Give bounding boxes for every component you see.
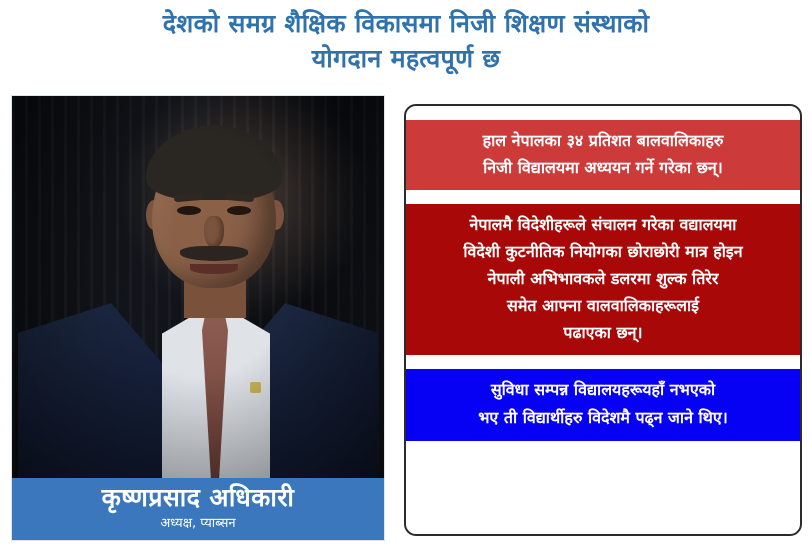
infographic-root: देशको समग्र शैक्षिक विकासमा निजी शिक्षण … [0,0,812,554]
quote-box-1: हाल नेपालका ३४ प्रतिशत बालवालिकाहरु निजी… [406,120,800,190]
quotes-panel: हाल नेपालका ३४ प्रतिशत बालवालिकाहरु निजी… [404,104,802,536]
page-title: देशको समग्र शैक्षिक विकासमा निजी शिक्षण … [14,6,798,76]
quote-box-3: सुविधा सम्पन्न विद्यालयहरूयहाँ नभएको भए … [406,369,800,441]
portrait-photo [12,96,384,478]
quote-2-line-1: नेपालमै विदेशीहरूले संचालन गरेका वद्यालय… [420,211,786,238]
name-caption-band: कृष्णप्रसाद अधिकारी अध्यक्ष, प्याब्सन [12,478,384,540]
quote-3-line-1: सुविधा सम्पन्न विद्यालयहरूयहाँ नभएको [420,376,786,404]
quote-2-line-5: पढाएका छन्। [420,319,786,346]
page-title-line-1: देशको समग्र शैक्षिक विकासमा निजी शिक्षण … [14,6,798,41]
photo-vignette [12,96,384,478]
portrait-card: कृष्णप्रसाद अधिकारी अध्यक्ष, प्याब्सन [12,96,384,540]
person-name: कृष्णप्रसाद अधिकारी [12,478,384,513]
quote-2-line-2: विदेशी कुटनीतिक नियोगका छोराछोरी मात्र ह… [420,238,786,265]
quote-3-line-2: भए ती विद्यार्थीहरु विदेशमै पढ्न जाने थि… [420,404,786,432]
quote-box-2: नेपालमै विदेशीहरूले संचालन गरेका वद्यालय… [406,204,800,355]
quote-1-line-1: हाल नेपालका ३४ प्रतिशत बालवालिकाहरु [420,127,786,154]
quote-2-line-4: समेत आफ्ना वालवालिकाहरूलाई [420,292,786,319]
quote-2-line-3: नेपाली अभिभावकले डलरमा शुल्क तिरेर [420,265,786,292]
person-role: अध्यक्ष, प्याब्सन [12,513,384,533]
quote-1-line-2: निजी विद्यालयमा अध्ययन गर्ने गरेका छन्। [420,154,786,181]
page-title-line-2: योगदान महत्वपूर्ण छ [14,41,798,76]
